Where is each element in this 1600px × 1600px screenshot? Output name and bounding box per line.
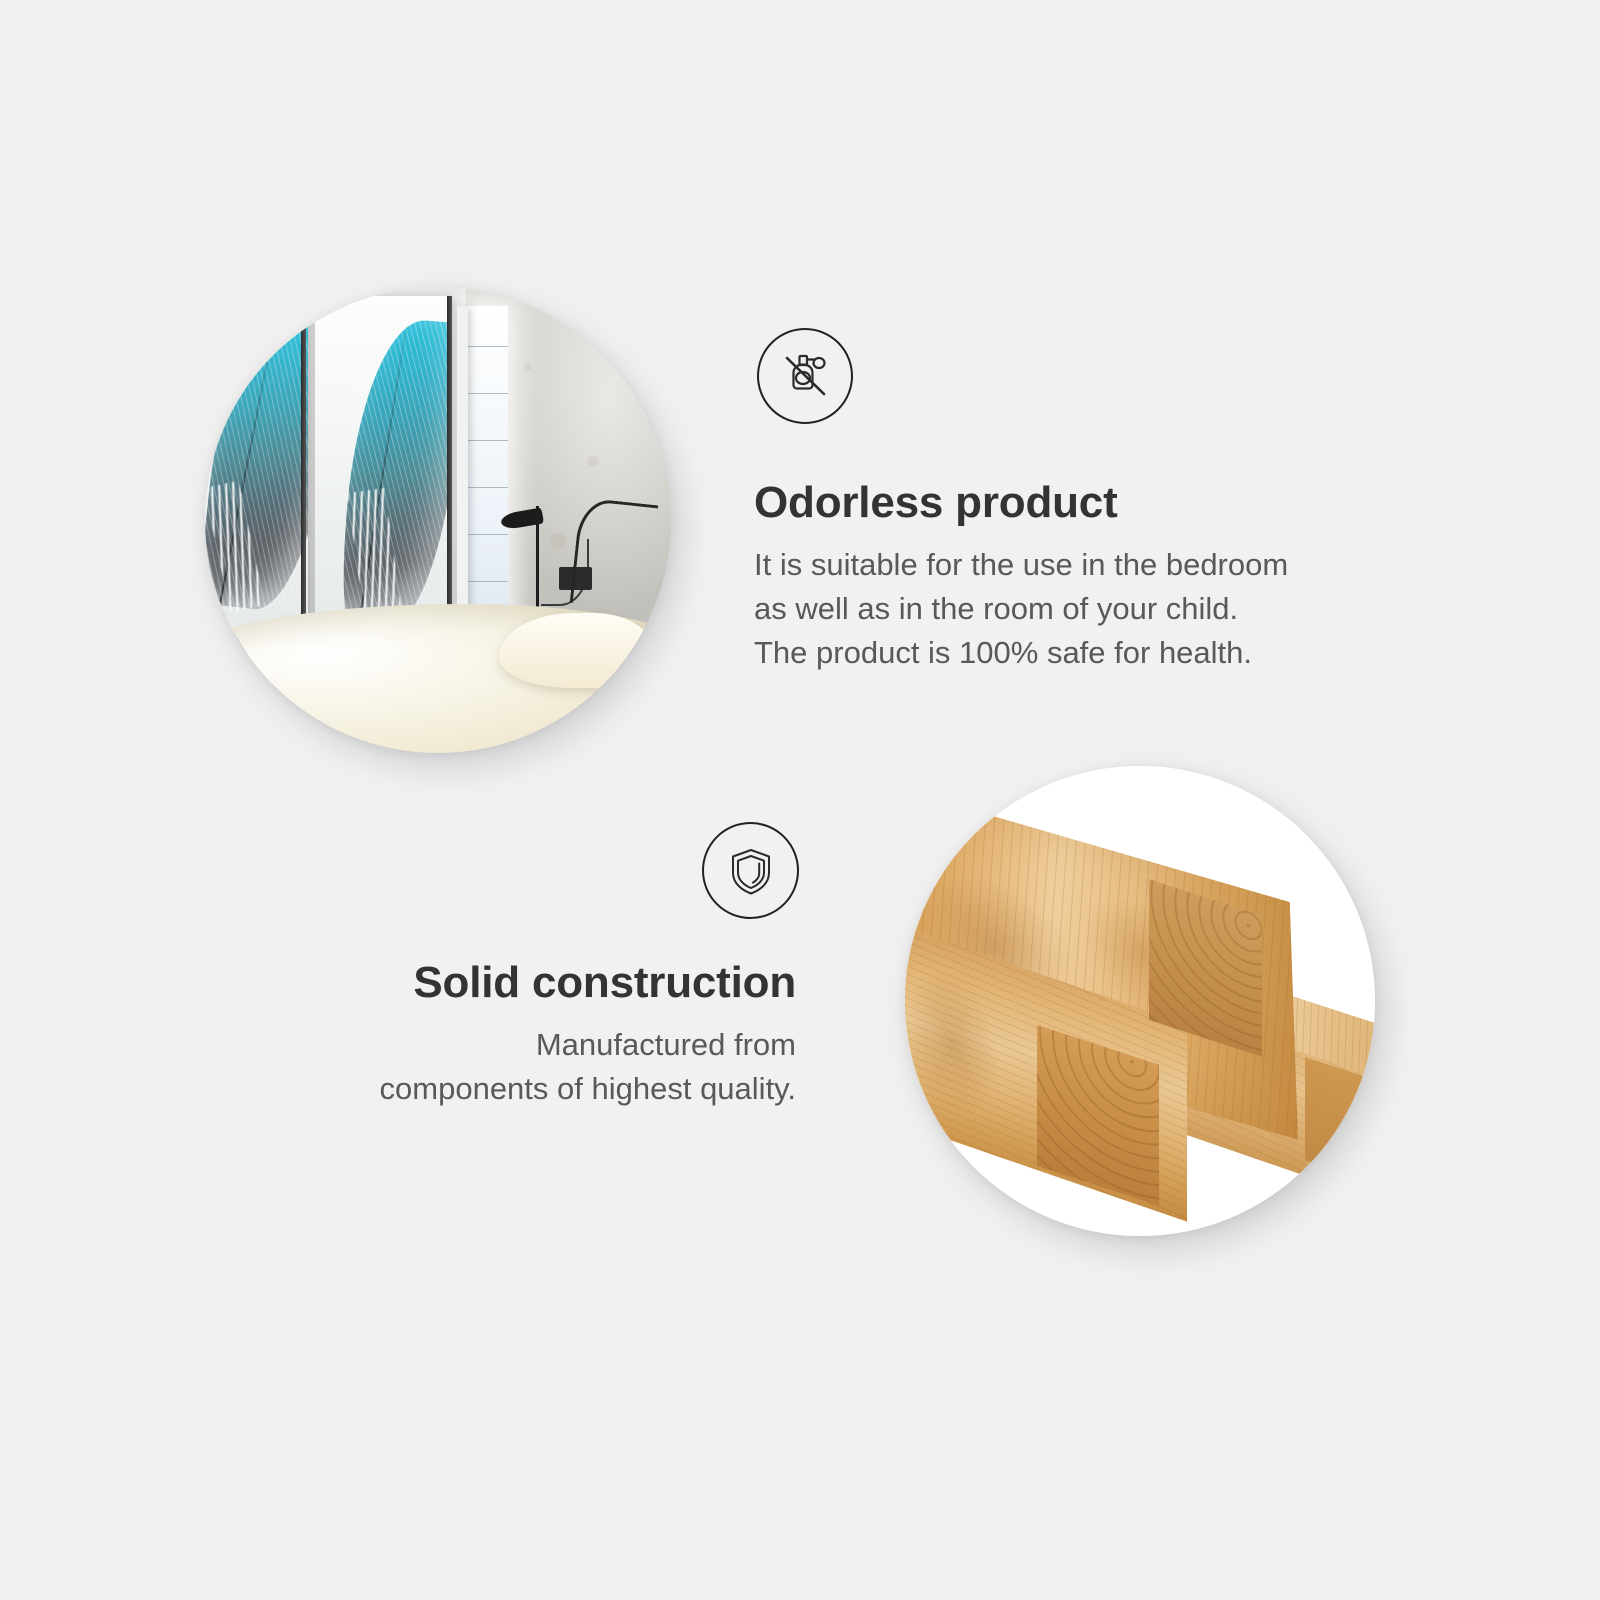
glass-block-window: [468, 306, 508, 642]
solid-construction-description-line-2: components of highest quality.: [290, 1067, 796, 1111]
odorless-description-line-2: as well as in the room of your child.: [754, 587, 1288, 631]
wooden-beams-scene: [905, 766, 1375, 1236]
odorless-title: Odorless product: [754, 480, 1288, 527]
art-panel-left: [205, 296, 308, 669]
bedroom-scene: [205, 287, 671, 753]
odorless-text-block: Odorless product It is suitable for the …: [754, 480, 1288, 675]
bed-pillow: [499, 613, 657, 688]
bedroom-feather-art-photo: [205, 287, 671, 753]
odorless-description-line-3: The product is 100% safe for health.: [754, 631, 1288, 675]
solid-construction-title: Solid construction: [290, 960, 796, 1007]
solid-construction-text-block: Solid construction Manufactured from com…: [290, 960, 796, 1111]
no-fragrance-icon: [757, 328, 853, 424]
shield-icon: [702, 822, 799, 919]
odorless-description: It is suitable for the use in the bedroo…: [754, 543, 1288, 675]
odorless-description-line-1: It is suitable for the use in the bedroo…: [754, 543, 1288, 587]
wooden-beams-photo: [905, 766, 1375, 1236]
solid-construction-description: Manufactured from components of highest …: [290, 1023, 796, 1111]
floor-lamp-pole: [536, 506, 539, 618]
infographic-stage: Odorless product It is suitable for the …: [0, 0, 1600, 1600]
solid-construction-description-line-1: Manufactured from: [290, 1023, 796, 1067]
